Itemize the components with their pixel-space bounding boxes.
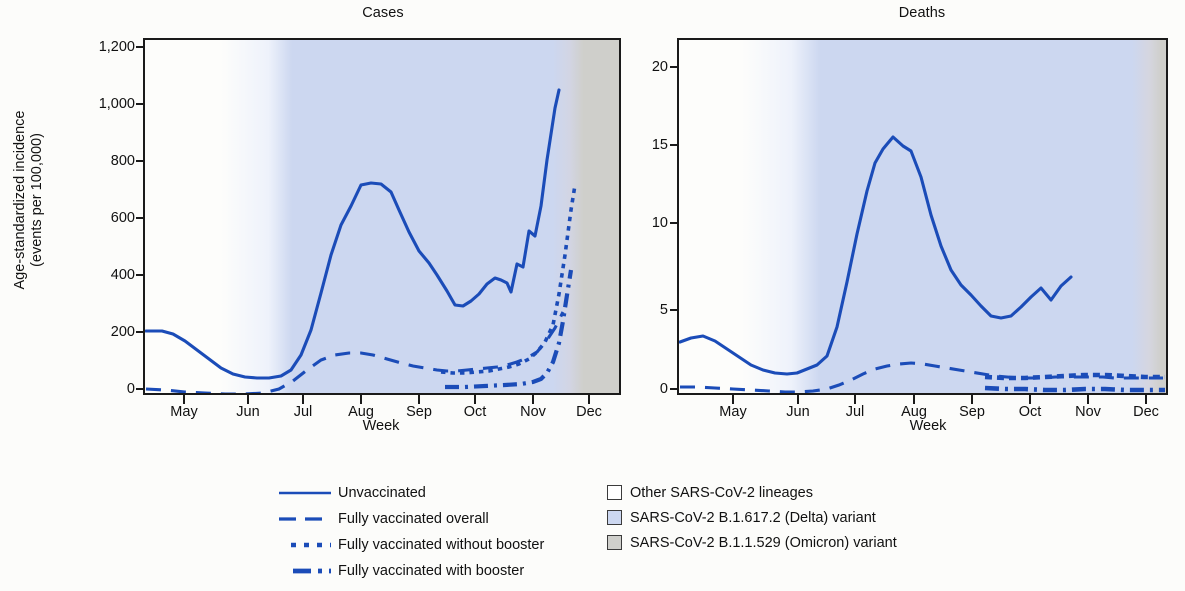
ytick-mark-deaths [670, 222, 678, 224]
plot-area-deaths [677, 38, 1168, 395]
xtick-mark-cases [588, 395, 590, 404]
xtick-mark-deaths [1087, 395, 1089, 404]
legend-label-other-lineages: Other SARS-CoV-2 lineages [630, 485, 813, 501]
ytick-mark-deaths [670, 309, 678, 311]
dash-dot-line-key-icon [272, 565, 338, 577]
series-svg-cases [145, 40, 621, 395]
legend-item-delta-variant[interactable]: SARS-CoV-2 B.1.617.2 (Delta) variant [607, 505, 897, 530]
ytick-label-cases-600: 600 [63, 210, 135, 226]
ytick-label-deaths-20: 20 [620, 59, 668, 75]
xtick-mark-deaths [854, 395, 856, 404]
xtick-label-deaths-jun: Jun [768, 404, 828, 420]
xtick-mark-deaths [1029, 395, 1031, 404]
series-line-fully-vaccinated-with-booster-deaths [985, 388, 1165, 390]
y-axis-label-line2: (events per 100,000) [29, 50, 46, 350]
xtick-mark-deaths [797, 395, 799, 404]
ytick-mark-cases [136, 46, 144, 48]
ytick-label-deaths-5: 5 [620, 302, 668, 318]
ytick-mark-cases [136, 388, 144, 390]
ytick-mark-deaths [670, 388, 678, 390]
xtick-label-cases-nov: Nov [503, 404, 563, 420]
xtick-label-cases-dec: Dec [559, 404, 619, 420]
dashed-line-key-icon [272, 513, 338, 525]
legend-item-omicron-variant[interactable]: SARS-CoV-2 B.1.1.529 (Omicron) variant [607, 530, 897, 555]
swatch-delta-variant-icon [607, 510, 622, 525]
ytick-label-cases-400: 400 [63, 267, 135, 283]
xtick-label-deaths-nov: Nov [1058, 404, 1118, 420]
xtick-mark-cases [474, 395, 476, 404]
legend-line-styles: Unvaccinated Fully vaccinated overall Fu… [272, 480, 544, 584]
ytick-label-deaths-0: 0 [620, 381, 668, 397]
xtick-label-deaths-dec: Dec [1116, 404, 1176, 420]
xtick-mark-cases [360, 395, 362, 404]
legend-label-fully-vaccinated-without-booster: Fully vaccinated without booster [338, 537, 544, 553]
plot-area-cases [143, 38, 621, 395]
ytick-mark-cases [136, 217, 144, 219]
legend-item-fully-vaccinated-overall[interactable]: Fully vaccinated overall [272, 506, 544, 532]
legend-item-unvaccinated[interactable]: Unvaccinated [272, 480, 544, 506]
ytick-label-deaths-10: 10 [620, 215, 668, 231]
series-svg-deaths [679, 40, 1168, 395]
ytick-label-cases-1200: 1,200 [63, 39, 135, 55]
legend-label-omicron-variant: SARS-CoV-2 B.1.1.529 (Omicron) variant [630, 535, 897, 551]
ytick-label-cases-800: 800 [63, 153, 135, 169]
xtick-label-deaths-may: May [703, 404, 763, 420]
figure-root: Cases Deaths Age-standardized incidence … [0, 0, 1185, 591]
swatch-other-lineages-icon [607, 485, 622, 500]
legend-label-delta-variant: SARS-CoV-2 B.1.617.2 (Delta) variant [630, 510, 876, 526]
legend-label-unvaccinated: Unvaccinated [338, 485, 426, 501]
ytick-mark-deaths [670, 144, 678, 146]
legend-item-fully-vaccinated-with-booster[interactable]: Fully vaccinated with booster [272, 558, 544, 584]
ytick-mark-cases [136, 160, 144, 162]
series-line-fully-vaccinated-overall-cases [146, 312, 563, 394]
xtick-mark-deaths [732, 395, 734, 404]
ytick-mark-cases [136, 274, 144, 276]
xtick-mark-cases [418, 395, 420, 404]
ytick-label-cases-0: 0 [63, 381, 135, 397]
x-axis-label-cases: Week [281, 418, 481, 434]
xtick-label-cases-may: May [154, 404, 214, 420]
legend-variant-swatches: Other SARS-CoV-2 lineages SARS-CoV-2 B.1… [607, 480, 897, 555]
ytick-mark-deaths [670, 66, 678, 68]
ytick-mark-cases [136, 103, 144, 105]
series-line-fully-vaccinated-overall-deaths [680, 363, 1163, 392]
legend-item-fully-vaccinated-without-booster[interactable]: Fully vaccinated without booster [272, 532, 544, 558]
series-line-unvaccinated-cases [146, 90, 559, 378]
ytick-mark-cases [136, 331, 144, 333]
ytick-label-deaths-15: 15 [620, 137, 668, 153]
xtick-mark-cases [302, 395, 304, 404]
y-axis-label: Age-standardized incidence (events per 1… [12, 50, 46, 350]
xtick-mark-cases [183, 395, 185, 404]
xtick-label-cases-jun: Jun [218, 404, 278, 420]
panel-title-deaths: Deaths [822, 5, 1022, 21]
panel-title-cases: Cases [283, 5, 483, 21]
series-line-unvaccinated-deaths [680, 137, 1071, 374]
xtick-mark-deaths [1145, 395, 1147, 404]
solid-line-key-icon [272, 487, 338, 499]
series-line-fully-vaccinated-without-booster-cases [441, 185, 575, 373]
swatch-omicron-variant-icon [607, 535, 622, 550]
xtick-mark-deaths [913, 395, 915, 404]
xtick-mark-deaths [971, 395, 973, 404]
legend-label-fully-vaccinated-overall: Fully vaccinated overall [338, 511, 489, 527]
legend-label-fully-vaccinated-with-booster: Fully vaccinated with booster [338, 563, 524, 579]
ytick-label-cases-200: 200 [63, 324, 135, 340]
x-axis-label-deaths: Week [828, 418, 1028, 434]
xtick-mark-cases [532, 395, 534, 404]
legend-item-other-lineages[interactable]: Other SARS-CoV-2 lineages [607, 480, 897, 505]
dotted-line-key-icon [272, 539, 338, 551]
ytick-label-cases-1000: 1,000 [63, 96, 135, 112]
y-axis-label-line1: Age-standardized incidence [12, 50, 29, 350]
xtick-mark-cases [247, 395, 249, 404]
